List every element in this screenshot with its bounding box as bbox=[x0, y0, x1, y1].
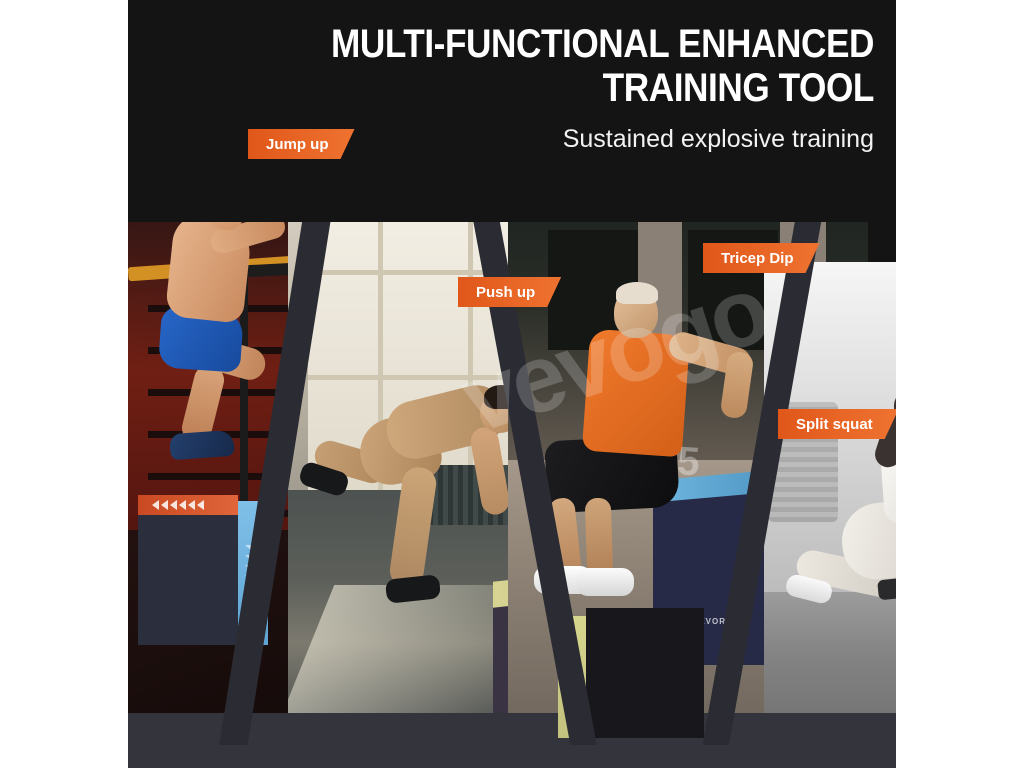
label-badge-jump-up: Jump up bbox=[248, 129, 355, 159]
athlete-shin-right bbox=[585, 498, 614, 577]
page-title-line-2: TRAINING TOOL bbox=[311, 66, 874, 110]
label-badge-push-up: Push up bbox=[458, 277, 561, 307]
plyo-box-body bbox=[586, 608, 704, 738]
header-band: MULTI-FUNCTIONAL ENHANCED TRAINING TOOL … bbox=[128, 0, 896, 222]
athlete-arm bbox=[469, 425, 512, 517]
plyo-box-body bbox=[138, 507, 238, 645]
product-marketing-banner: 24 VEVOR 5 bbox=[0, 0, 1024, 768]
chevron-arrows-icon bbox=[152, 500, 204, 510]
athlete-front-shoe bbox=[385, 574, 441, 604]
tank-top-number: 5 bbox=[676, 439, 701, 485]
label-badge-tricep-dip: Tricep Dip bbox=[703, 243, 820, 273]
plyo-box-top-stripe bbox=[138, 495, 238, 515]
banner-content-area: 24 VEVOR 5 bbox=[128, 0, 896, 745]
label-badge-split-squat: Split squat bbox=[778, 409, 896, 439]
athlete-shoe-right bbox=[576, 568, 634, 596]
athlete-hair bbox=[616, 282, 658, 304]
page-title-line-1: MULTI-FUNCTIONAL ENHANCED bbox=[311, 22, 874, 66]
athlete-shoe bbox=[169, 430, 235, 460]
